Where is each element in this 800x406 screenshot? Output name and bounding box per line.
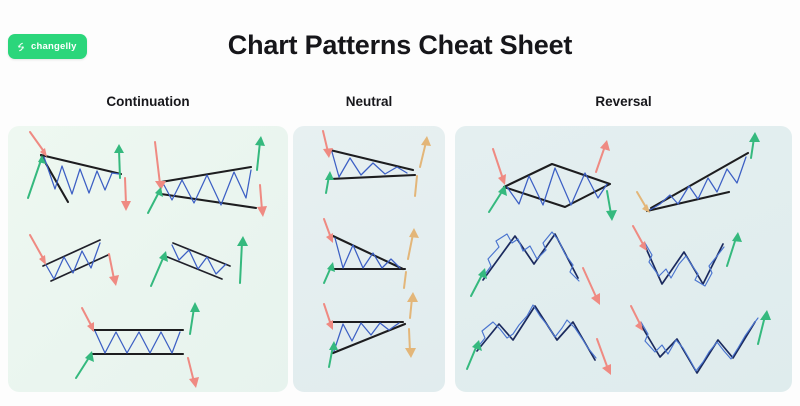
- pattern-inverse-head-and-shoulders: [631, 306, 771, 373]
- page-title: Chart Patterns Cheat Sheet: [0, 30, 800, 61]
- cheat-sheet-page: changelly Chart Patterns Cheat Sheet Con…: [0, 0, 800, 406]
- pattern-symmetrical-triangle: [323, 131, 431, 196]
- panel-neutral: [293, 126, 445, 392]
- pattern-diamond: [489, 140, 617, 221]
- section-heading-reversal: Reversal: [455, 94, 792, 109]
- pattern-ascending-triangle: [324, 292, 418, 367]
- pattern-falling-channel: [151, 236, 248, 286]
- panel-continuation: [8, 126, 288, 392]
- pattern-descending-triangle: [324, 219, 419, 288]
- pattern-expanding-wedge: [148, 136, 267, 217]
- pattern-symmetrical-triangle: [28, 132, 131, 211]
- section-heading-continuation: Continuation: [8, 94, 288, 109]
- section-heading-neutral: Neutral: [293, 94, 445, 109]
- pattern-rising-wedge: [637, 132, 760, 213]
- continuation-diagrams: [8, 126, 288, 392]
- reversal-diagrams: [455, 126, 792, 392]
- pattern-double-bottom: [633, 226, 742, 286]
- pattern-rectangle: [76, 302, 200, 388]
- pattern-double-top: [471, 232, 600, 305]
- neutral-diagrams: [293, 126, 445, 392]
- panel-reversal: [455, 126, 792, 392]
- pattern-rising-channel: [30, 235, 119, 286]
- pattern-head-and-shoulders: [467, 305, 611, 375]
